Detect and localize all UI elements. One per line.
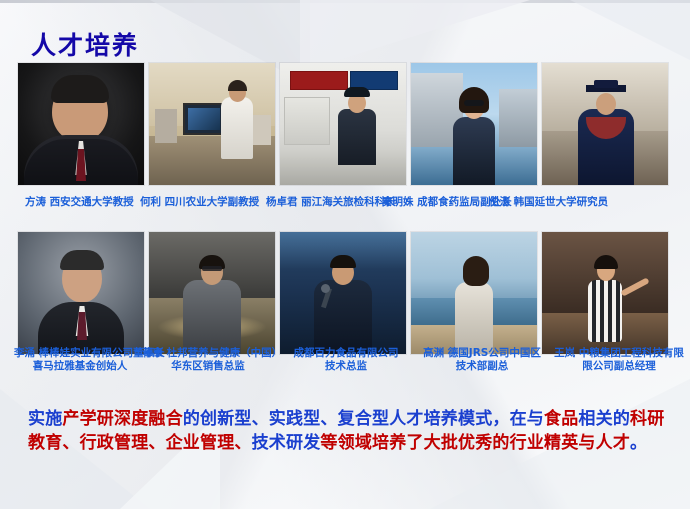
background-facet-2 [300, 0, 530, 72]
photo-graduation-gown-portrait [542, 63, 668, 185]
photo-customs-inspection-counter [280, 63, 406, 185]
summary-paragraph: 实施产学研深度融合的创新型、实践型、复合型人才培养模式，在与食品相关的科研教育、… [28, 408, 674, 455]
caption-item-7-line2: 华东区销售总监 [142, 360, 274, 373]
caption-item-5: 伦涛 韩国延世大学研究员 [489, 196, 608, 209]
slide-canvas: 人才培养 方涛 西安交通大学教授 何利 四川农业大学副教授 杨卓君 丽江海关旅检… [0, 0, 690, 509]
paragraph-segment-1: 实施 [28, 409, 62, 429]
paragraph-segment-9: 优秀的行业精英与人才 [458, 433, 630, 453]
paragraph-segment-3: 的创新型、实践型、复合型人才培养模式，在与 [183, 409, 544, 429]
caption-item-6-line2: 喜马拉雅基金创始人 [14, 360, 146, 373]
photo-man-dark-suit-portrait [18, 63, 144, 185]
photo-row-1 [18, 63, 672, 185]
paragraph-segment-8: 等领域培养了大批 [320, 433, 458, 453]
photo-woman-sunglasses-seaside [411, 63, 537, 185]
paragraph-segment-5: 相关的 [578, 409, 630, 429]
paragraph-segment-10: 。 [630, 433, 647, 453]
caption-item-10-line1: 王岚 中粮集团工程科技有限 [554, 347, 684, 359]
caption-item-7: 蒋康 杜邦营养与健康（中国） 华东区销售总监 [142, 347, 274, 372]
caption-item-8: 成都百力食品有限公司 技术总监 [276, 347, 416, 372]
caption-item-8-line2: 技术总监 [276, 360, 416, 373]
photo-woman-striped-dress-dance [542, 232, 668, 354]
background-facet-6 [570, 0, 690, 60]
photo-man-grey-showcase [149, 232, 275, 354]
caption-item-7-line1: 蒋康 杜邦营养与健康（中国） [142, 347, 282, 359]
paragraph-segment-4: 食品 [544, 409, 578, 429]
slide-top-edge [0, 0, 690, 3]
paragraph-segment-7: 技术研发 [252, 433, 321, 453]
caption-item-6: 李涌 棒棒娃实业有限公司董事长 喜马拉雅基金创始人 [14, 347, 146, 372]
photo-man-with-microphone-stage [280, 232, 406, 354]
caption-item-2: 何利 四川农业大学副教授 [140, 196, 259, 209]
caption-item-10: 王岚 中粮集团工程科技有限 限公司副总经理 [548, 347, 690, 372]
photo-woman-seaside-outdoor [411, 232, 537, 354]
caption-item-9: 高渊 德国JRS公司中国区 技术部副总 [414, 347, 550, 372]
caption-item-1: 方涛 西安交通大学教授 [25, 196, 134, 209]
caption-item-9-line1: 高渊 德国JRS公司中国区 [423, 347, 541, 359]
paragraph-segment-2: 产学研深度融合 [62, 409, 182, 429]
caption-item-3: 杨卓君 丽江海关旅检科科长 [266, 196, 396, 209]
caption-item-8-line1: 成都百力食品有限公司 [294, 347, 399, 359]
page-title: 人才培养 [31, 26, 139, 62]
photo-senior-man-suit-portrait [18, 232, 144, 354]
photo-laboratory-workstation [149, 63, 275, 185]
caption-item-9-line2: 技术部副总 [414, 360, 550, 373]
caption-item-10-line2: 限公司副总经理 [548, 360, 690, 373]
photo-row-2 [18, 232, 672, 354]
